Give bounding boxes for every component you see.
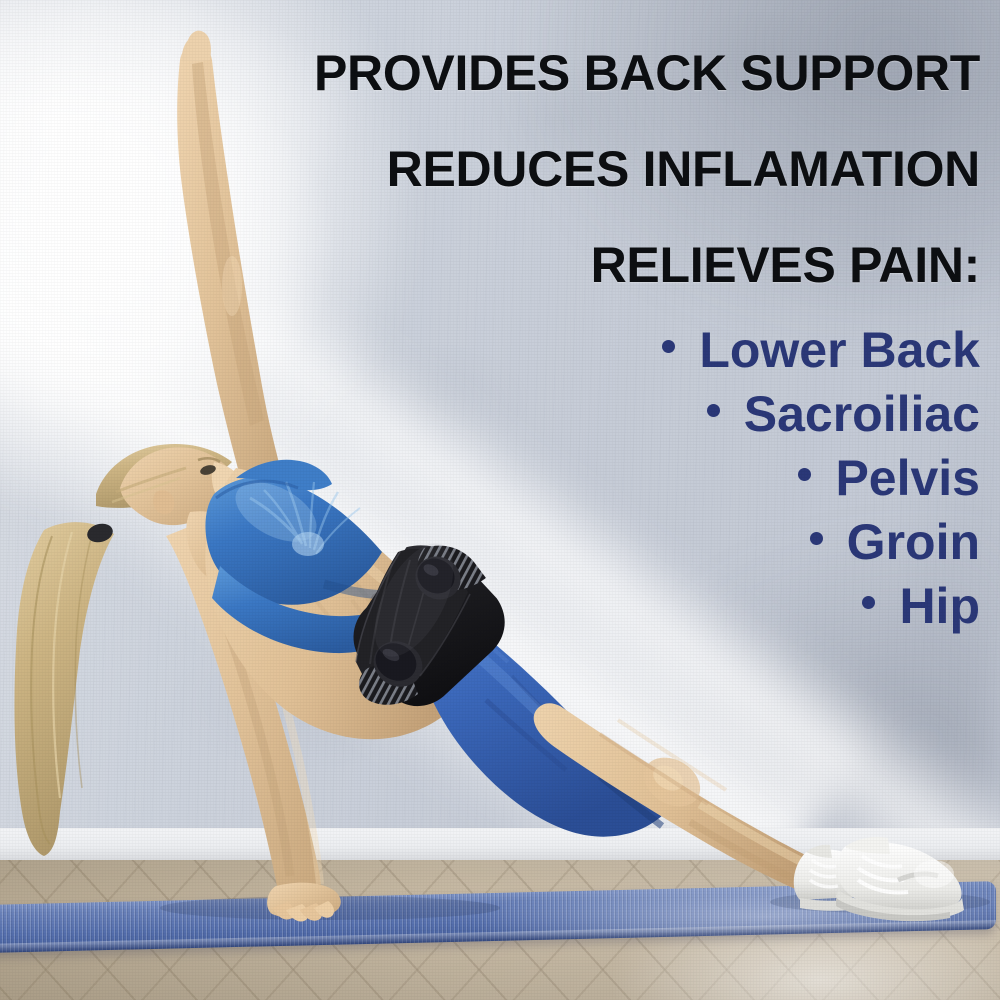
- headline-line-2: REDUCES INFLAMATION: [140, 144, 980, 194]
- list-item: Hip: [140, 574, 980, 638]
- list-item-label: Hip: [899, 578, 980, 634]
- bullet-dot-icon: [810, 532, 823, 545]
- list-item: Sacroiliac: [140, 382, 980, 446]
- list-item: Groin: [140, 510, 980, 574]
- headline-line-3: RELIEVES PAIN:: [140, 240, 980, 290]
- headline-line-1: PROVIDES BACK SUPPORT: [140, 48, 980, 98]
- list-item: Pelvis: [140, 446, 980, 510]
- pain-relief-list: Lower Back Sacroiliac Pelvis Groin Hip: [140, 318, 980, 638]
- product-graphic-canvas: PROVIDES BACK SUPPORT REDUCES INFLAMATIO…: [0, 0, 1000, 1000]
- list-item-label: Sacroiliac: [744, 386, 980, 442]
- bullet-dot-icon: [662, 340, 675, 353]
- bullet-dot-icon: [798, 468, 811, 481]
- list-item-label: Lower Back: [699, 322, 980, 378]
- bullet-dot-icon: [862, 596, 875, 609]
- marketing-copy: PROVIDES BACK SUPPORT REDUCES INFLAMATIO…: [140, 48, 980, 638]
- list-item: Lower Back: [140, 318, 980, 382]
- bullet-dot-icon: [707, 404, 720, 417]
- baseboard-trim: [0, 828, 1000, 862]
- list-item-label: Pelvis: [835, 450, 980, 506]
- list-item-label: Groin: [847, 514, 980, 570]
